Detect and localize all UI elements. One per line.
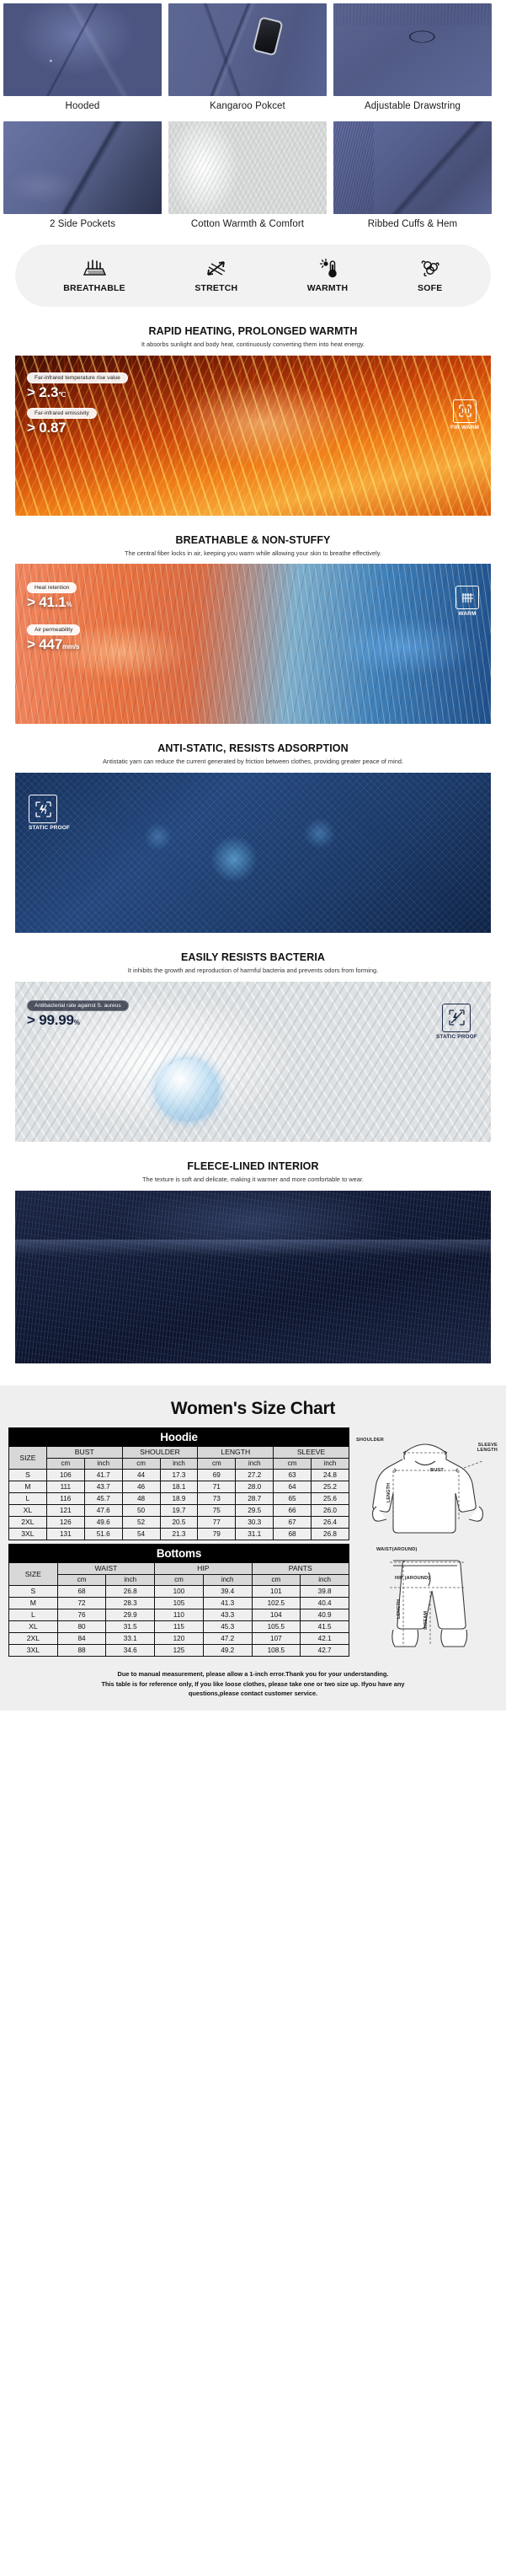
feature-cell-kangaroo-pocket: Kangaroo Pokcet: [168, 3, 327, 115]
table-row: 3XL 88 34.6 125 49.2 108.5 42.7: [9, 1644, 349, 1656]
hoodie-group-bust: BUST: [46, 1446, 122, 1458]
static-proof-icon: [442, 1004, 471, 1032]
bottoms-unit: cm: [155, 1574, 204, 1585]
bacteria-bubble: [157, 1059, 219, 1122]
table-row: L 116 45.7 48 18.9 73 28.7 65 25.6: [9, 1492, 349, 1504]
badge-text: FIR WARM: [450, 425, 479, 431]
value-cell: 28.3: [106, 1597, 155, 1609]
value-cell: 51.6: [84, 1528, 122, 1540]
section-antibacterial: EASILY RESISTS BACTERIA It inhibits the …: [0, 951, 506, 1142]
value-cell: 116: [46, 1492, 84, 1504]
value-cell: 33.1: [106, 1632, 155, 1644]
value-cell: 105: [155, 1597, 204, 1609]
value-cell: 73: [198, 1492, 236, 1504]
value-cell: 75: [198, 1504, 236, 1516]
section-anti-static: ANTI-STATIC, RESISTS ADSORPTION Antistat…: [0, 742, 506, 933]
value-cell: 84: [57, 1632, 106, 1644]
phone-icon: [252, 16, 283, 56]
bottoms-group-hip: HIP: [155, 1562, 252, 1574]
value-cell: 42.1: [301, 1632, 349, 1644]
fiber-texture: [15, 564, 491, 724]
hero-image-anti-static: STATIC PROOF: [15, 773, 491, 933]
metric-label-antibacterial-rate: Antibacterial rate against S. aureus: [27, 1000, 129, 1011]
feature-caption: Hooded: [3, 96, 162, 115]
value-cell: 104: [252, 1609, 301, 1620]
warm-badge: WARM: [455, 586, 479, 617]
metric-value-heat-retention: > 41.1%: [27, 594, 72, 611]
value-cell: 121: [46, 1504, 84, 1516]
value-cell: 71: [198, 1481, 236, 1492]
kangaroo-pocket-photo: [168, 3, 327, 96]
hoodie-table-banner: Hoodie: [9, 1427, 349, 1446]
value-cell: 54: [122, 1528, 160, 1540]
icon-item-sofe: SOFE: [418, 258, 443, 293]
garment-seam: [15, 1240, 491, 1256]
value-cell: 72: [57, 1597, 106, 1609]
bottoms-unit: inch: [301, 1574, 349, 1585]
value-cell: 63: [274, 1469, 312, 1481]
label-shoulder: SHOULDER: [356, 1438, 384, 1443]
icon-item-breathable: BREATHABLE: [63, 258, 125, 293]
bottoms-group-pants: PANTS: [252, 1562, 349, 1574]
value-cell: 26.0: [312, 1504, 349, 1516]
size-cell: L: [9, 1492, 47, 1504]
hero-image-antibacterial: Antibacterial rate against S. aureus > 9…: [15, 982, 491, 1142]
value-cell: 29.9: [106, 1609, 155, 1620]
hoodie-size-header: SIZE: [9, 1446, 47, 1469]
static-proof-icon: [29, 795, 57, 823]
label-length: LENGTH: [386, 1483, 391, 1502]
value-cell: 31.5: [106, 1620, 155, 1632]
hoodie-unit: inch: [312, 1458, 349, 1469]
label-sleeve-length: SLEEVE LENGTH: [477, 1443, 498, 1454]
value-cell: 76: [57, 1609, 106, 1620]
size-chart-panel: Women's Size Chart Hoodie SIZE BUST SHOU…: [0, 1385, 506, 1711]
feature-cell-hooded: Hooded: [3, 3, 162, 115]
value-cell: 17.3: [160, 1469, 198, 1481]
value-cell: 39.8: [301, 1585, 349, 1597]
value-cell: 77: [198, 1516, 236, 1528]
value-cell: 69: [198, 1469, 236, 1481]
value-cell: 107: [252, 1632, 301, 1644]
section-title: EASILY RESISTS BACTERIA: [0, 951, 506, 963]
value-cell: 102.5: [252, 1597, 301, 1609]
hoodie-group-shoulder: SHOULDER: [122, 1446, 198, 1458]
metric-value-emissivity: > 0.87: [27, 420, 67, 436]
feature-cell-drawstring: Adjustable Drawstring: [333, 3, 492, 115]
icon-label: WARMTH: [307, 283, 348, 293]
value-cell: 21.3: [160, 1528, 198, 1540]
value-cell: 25.2: [312, 1481, 349, 1492]
section-rapid-heating: RAPID HEATING, PROLONGED WARMTH It absor…: [0, 325, 506, 516]
value-cell: 44: [122, 1469, 160, 1481]
hoodie-unit: cm: [46, 1458, 84, 1469]
value-cell: 49.6: [84, 1516, 122, 1528]
bottoms-unit: cm: [57, 1574, 106, 1585]
value-cell: 28.7: [236, 1492, 274, 1504]
value-cell: 79: [198, 1528, 236, 1540]
feature-cell-side-pockets: 2 Side Pockets: [3, 121, 162, 233]
hoodie-unit: inch: [84, 1458, 122, 1469]
bottoms-unit: inch: [106, 1574, 155, 1585]
stretch-arrows-icon: [204, 258, 229, 280]
table-row: S 68 26.8 100 39.4 101 39.8: [9, 1585, 349, 1597]
size-cell: L: [9, 1609, 58, 1620]
value-cell: 106: [46, 1469, 84, 1481]
size-cell: 3XL: [9, 1644, 58, 1656]
feature-caption: Cotton Warmth & Comfort: [168, 214, 327, 233]
hoodie-unit: cm: [122, 1458, 160, 1469]
hoodie-unit: inch: [236, 1458, 274, 1469]
value-cell: 126: [46, 1516, 84, 1528]
metric-label-temp-rise: Far-infrared temperature rise value: [27, 372, 128, 383]
value-cell: 43.7: [84, 1481, 122, 1492]
value-cell: 88: [57, 1644, 106, 1656]
cotton-boll-icon: [418, 258, 443, 280]
section-subtitle: The texture is soft and delicate, making…: [0, 1172, 506, 1185]
table-row: S 106 41.7 44 17.3 69 27.2 63 24.8: [9, 1469, 349, 1481]
value-cell: 45.7: [84, 1492, 122, 1504]
section-subtitle: The central fiber locks in air, keeping …: [0, 546, 506, 559]
feature-caption: 2 Side Pockets: [3, 214, 162, 233]
icon-label: SOFE: [418, 283, 442, 293]
value-cell: 27.2: [236, 1469, 274, 1481]
metric-value-antibacterial-rate: > 99.99%: [27, 1012, 80, 1029]
badge-text: STATIC PROOF: [436, 1034, 477, 1040]
label-hip-around: HIP (AROUND): [395, 1576, 429, 1581]
icon-item-stretch: STRETCH: [194, 258, 237, 293]
value-cell: 34.6: [106, 1644, 155, 1656]
value-cell: 68: [274, 1528, 312, 1540]
feature-photo-grid: Hooded Kangaroo Pokcet Adjustable Drawst…: [0, 0, 506, 233]
value-cell: 64: [274, 1481, 312, 1492]
size-cell: 2XL: [9, 1516, 47, 1528]
value-cell: 101: [252, 1585, 301, 1597]
table-row: M 72 28.3 105 41.3 102.5 40.4: [9, 1597, 349, 1609]
cotton-fleece-photo: [168, 121, 327, 214]
value-cell: 110: [155, 1609, 204, 1620]
measurement-diagrams: SHOULDER SLEEVE LENGTH BUST LENGTH: [356, 1427, 498, 1662]
table-row: 3XL 131 51.6 54 21.3 79 31.1 68 26.8: [9, 1528, 349, 1540]
value-cell: 42.7: [301, 1644, 349, 1656]
label-inseam: INSEAM: [423, 1611, 429, 1630]
pants-measurement-diagram: WAIST(AROUND) HIP (AROUND) LENGTH INSEAM: [356, 1547, 498, 1662]
size-cell: S: [9, 1585, 58, 1597]
size-cell: M: [9, 1597, 58, 1609]
value-cell: 26.4: [312, 1516, 349, 1528]
table-row: M 111 43.7 46 18.1 71 28.0 64 25.2: [9, 1481, 349, 1492]
size-chart-title: Women's Size Chart: [8, 1399, 498, 1419]
disclaimer-line-1: Due to manual measurement, please allow …: [20, 1669, 486, 1679]
size-cell: M: [9, 1481, 47, 1492]
value-cell: 47.2: [203, 1632, 252, 1644]
hoodie-unit: inch: [160, 1458, 198, 1469]
value-cell: 41.3: [203, 1597, 252, 1609]
section-subtitle: It absorbs sunlight and body heat, conti…: [0, 337, 506, 350]
section-subtitle: It inhibits the growth and reproduction …: [0, 963, 506, 976]
value-cell: 28.0: [236, 1481, 274, 1492]
value-cell: 52: [122, 1516, 160, 1528]
value-cell: 26.8: [312, 1528, 349, 1540]
size-cell: 3XL: [9, 1528, 47, 1540]
breathable-icon: [82, 258, 107, 280]
section-subtitle: Antistatic yarn can reduce the current g…: [0, 754, 506, 767]
metric-label-heat-retention: Heat retention: [27, 582, 77, 593]
value-cell: 48: [122, 1492, 160, 1504]
icon-label: STRETCH: [194, 283, 237, 293]
section-title: RAPID HEATING, PROLONGED WARMTH: [0, 325, 506, 337]
feature-caption: Adjustable Drawstring: [333, 96, 492, 115]
value-cell: 131: [46, 1528, 84, 1540]
badge-text: WARM: [458, 611, 476, 617]
side-pocket-photo: [3, 121, 162, 214]
table-row: 2XL 84 33.1 120 47.2 107 42.1: [9, 1632, 349, 1644]
size-tables: Hoodie SIZE BUST SHOULDER LENGTH SLEEVE …: [8, 1427, 349, 1657]
hoodie-unit: cm: [274, 1458, 312, 1469]
value-cell: 18.9: [160, 1492, 198, 1504]
value-cell: 65: [274, 1492, 312, 1504]
label-bust: BUST: [430, 1468, 444, 1473]
drawstring-photo: [333, 3, 492, 96]
value-cell: 80: [57, 1620, 106, 1632]
table-row: XL 121 47.6 50 19.7 75 29.5 66 26.0: [9, 1504, 349, 1516]
value-cell: 108.5: [252, 1644, 301, 1656]
feature-cell-ribbed-cuffs: Ribbed Cuffs & Hem: [333, 121, 492, 233]
value-cell: 120: [155, 1632, 204, 1644]
label-waist-around: WAIST(AROUND): [376, 1547, 418, 1552]
value-cell: 46: [122, 1481, 160, 1492]
table-row: XL 80 31.5 115 45.3 105.5 41.5: [9, 1620, 349, 1632]
fir-warm-badge: FIR WARM: [450, 399, 479, 431]
value-cell: 24.8: [312, 1469, 349, 1481]
section-breathable: BREATHABLE & NON-STUFFY The central fibe…: [0, 534, 506, 725]
size-cell: XL: [9, 1504, 47, 1516]
warm-lines-icon: [455, 586, 479, 609]
value-cell: 100: [155, 1585, 204, 1597]
disclaimer-line-3: questions,please contact customer servic…: [20, 1689, 486, 1699]
value-cell: 47.6: [84, 1504, 122, 1516]
bottoms-unit: cm: [252, 1574, 301, 1585]
value-cell: 30.3: [236, 1516, 274, 1528]
fiber-texture: [15, 773, 491, 933]
bottoms-size-table: Bottoms SIZE WAIST HIP PANTS cm inch cm …: [8, 1544, 349, 1657]
table-row: 2XL 126 49.6 52 20.5 77 30.3 67 26.4: [9, 1516, 349, 1528]
value-cell: 20.5: [160, 1516, 198, 1528]
size-cell: S: [9, 1469, 47, 1481]
bottoms-unit: inch: [203, 1574, 252, 1585]
bottoms-group-waist: WAIST: [57, 1562, 154, 1574]
fir-warm-icon: [453, 399, 477, 423]
static-proof-badge: STATIC PROOF: [436, 1004, 477, 1040]
metric-value-air-permeability: > 447mm/s: [27, 636, 79, 653]
label-pants-length: LENGTH: [397, 1599, 402, 1619]
value-cell: 115: [155, 1620, 204, 1632]
hood-photo: [3, 3, 162, 96]
hero-image-heat: Far-infrared temperature rise value > 2.…: [15, 356, 491, 516]
hoodie-size-table: Hoodie SIZE BUST SHOULDER LENGTH SLEEVE …: [8, 1427, 349, 1540]
value-cell: 68: [57, 1585, 106, 1597]
value-cell: 66: [274, 1504, 312, 1516]
ribbed-cuff-photo: [333, 121, 492, 214]
hoodie-group-length: LENGTH: [198, 1446, 274, 1458]
icon-label: BREATHABLE: [63, 283, 125, 293]
hoodie-group-sleeve: SLEEVE: [274, 1446, 349, 1458]
section-title: ANTI-STATIC, RESISTS ADSORPTION: [0, 742, 506, 754]
value-cell: 25.6: [312, 1492, 349, 1504]
value-cell: 31.1: [236, 1528, 274, 1540]
value-cell: 41.5: [301, 1620, 349, 1632]
value-cell: 39.4: [203, 1585, 252, 1597]
feature-caption: Ribbed Cuffs & Hem: [333, 214, 492, 233]
badge-text: STATIC PROOF: [29, 825, 70, 831]
section-title: BREATHABLE & NON-STUFFY: [0, 534, 506, 546]
metric-value-temp-rise: > 2.3℃: [27, 384, 66, 401]
disclaimer-line-2: This table is for reference only, If you…: [20, 1679, 486, 1690]
value-cell: 50: [122, 1504, 160, 1516]
hero-image-breathable: Heat retention > 41.1% Air permeability …: [15, 564, 491, 724]
value-cell: 67: [274, 1516, 312, 1528]
feature-caption: Kangaroo Pokcet: [168, 96, 327, 115]
fiber-texture: [15, 1191, 491, 1363]
size-chart-disclaimer: Due to manual measurement, please allow …: [8, 1662, 498, 1701]
value-cell: 49.2: [203, 1644, 252, 1656]
value-cell: 45.3: [203, 1620, 252, 1632]
value-cell: 18.1: [160, 1481, 198, 1492]
hoodie-measurement-diagram: SHOULDER SLEEVE LENGTH BUST LENGTH: [356, 1431, 498, 1542]
hero-image-fleece: [15, 1191, 491, 1363]
value-cell: 111: [46, 1481, 84, 1492]
feature-cell-cotton-warmth: Cotton Warmth & Comfort: [168, 121, 327, 233]
value-cell: 40.4: [301, 1597, 349, 1609]
feature-icon-band: BREATHABLE STRETCH WARMTH: [15, 244, 491, 307]
value-cell: 125: [155, 1644, 204, 1656]
table-row: L 76 29.9 110 43.3 104 40.9: [9, 1609, 349, 1620]
value-cell: 43.3: [203, 1609, 252, 1620]
section-title: FLEECE-LINED INTERIOR: [0, 1160, 506, 1172]
value-cell: 19.7: [160, 1504, 198, 1516]
size-cell: XL: [9, 1620, 58, 1632]
icon-item-warmth: WARMTH: [307, 258, 348, 293]
static-proof-badge: STATIC PROOF: [29, 795, 70, 831]
bottoms-table-banner: Bottoms: [9, 1544, 349, 1562]
thermometer-sun-icon: [315, 258, 340, 280]
metric-label-emissivity: Far-infrared emissivity: [27, 408, 97, 419]
value-cell: 41.7: [84, 1469, 122, 1481]
value-cell: 26.8: [106, 1585, 155, 1597]
value-cell: 40.9: [301, 1609, 349, 1620]
bottoms-size-header: SIZE: [9, 1562, 58, 1585]
value-cell: 29.5: [236, 1504, 274, 1516]
metric-label-air-permeability: Air permeability: [27, 624, 80, 635]
value-cell: 105.5: [252, 1620, 301, 1632]
section-fleece-lined: FLEECE-LINED INTERIOR The texture is sof…: [0, 1160, 506, 1363]
hoodie-unit: cm: [198, 1458, 236, 1469]
size-cell: 2XL: [9, 1632, 58, 1644]
